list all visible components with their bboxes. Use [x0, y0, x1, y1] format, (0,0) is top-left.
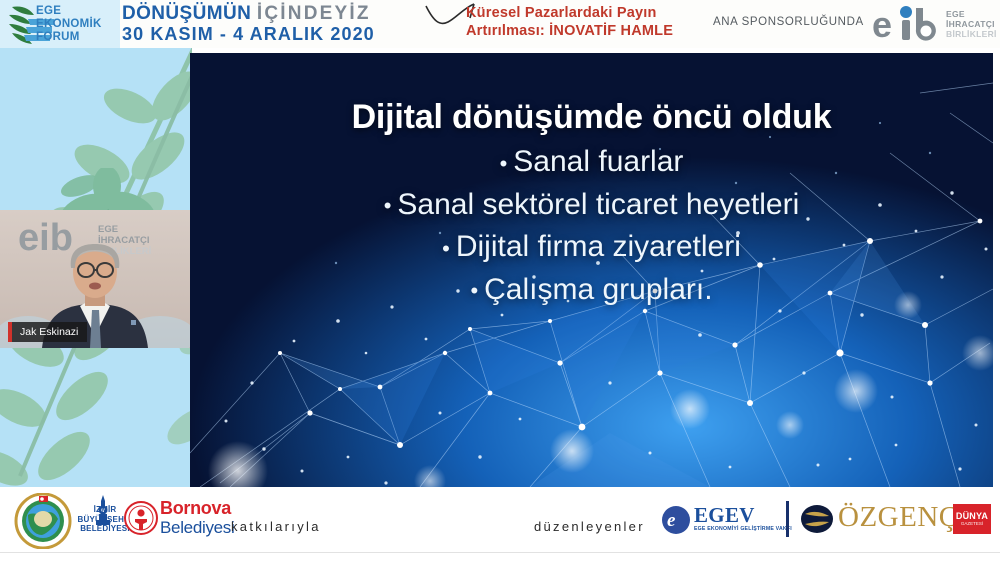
eib-line1: EGE — [946, 9, 997, 19]
footer-divider — [786, 501, 789, 537]
event-theme-line2: Artırılması: İNOVATİF HAMLE — [466, 22, 673, 40]
forum-logo-text: EGE EKONOMİK FORUM — [36, 5, 102, 44]
bullet-text: Çalışma grupları. — [484, 273, 712, 306]
bullet-text: Sanal sektörel ticaret heyetleri — [397, 188, 799, 221]
dunya-line2: GAZETESİ — [961, 521, 983, 527]
slide-bullet-item: •Sanal sektörel ticaret heyetleri — [190, 184, 993, 227]
sponsor-label: ANA SPONSORLUĞUNDA — [713, 16, 864, 28]
event-title-soft: İÇİNDEYİZ — [257, 3, 371, 24]
egev-logo-text: EGEV EGE EKONOMİYİ GELİŞTİRME VAKFI — [694, 504, 792, 533]
event-header-bar: EGE EKONOMİK FORUM DÖNÜŞÜMÜN İÇİNDEYİZ 3… — [0, 0, 1000, 48]
forum-logo-line3: FORUM — [36, 31, 102, 44]
egev-subtitle: EGE EKONOMİYİ GELİŞTİRME VAKFI — [694, 526, 792, 533]
eib-sponsor-logo: e EGE İHRACATÇI BİRLİKLERİ — [872, 4, 996, 44]
forum-logo-line1: EGE — [36, 5, 102, 18]
bornova-line1: Bornova — [160, 499, 235, 518]
egev-name: EGEV — [694, 504, 792, 526]
eib-logo-mark: e — [872, 4, 944, 44]
izmir-municipality-seal-icon — [14, 493, 72, 549]
slide-bullet-item: •Dijital firma ziyaretleri — [190, 226, 993, 269]
dunya-line1: DÜNYA — [956, 511, 988, 521]
event-title-block: DÖNÜŞÜMÜN İÇİNDEYİZ 30 KASIM - 4 ARALIK … — [122, 3, 422, 45]
svg-text:e: e — [872, 4, 892, 44]
bullet-text: Sanal fuarlar — [513, 145, 683, 178]
svg-text:eib: eib — [18, 217, 73, 259]
bullet-dot-icon: • — [470, 278, 478, 303]
event-theme-line1: Küresel Pazarlardaki Payın — [466, 4, 673, 22]
event-title-main: DÖNÜŞÜMÜN — [122, 3, 251, 24]
event-dates: 30 KASIM - 4 ARALIK 2020 — [122, 24, 422, 45]
svg-text:EGE: EGE — [98, 224, 118, 235]
bornova-municipality-seal-icon — [124, 501, 158, 535]
bullet-dot-icon: • — [384, 193, 392, 218]
eib-line2: İHRACATÇI — [946, 19, 997, 29]
slide-bullet-list: •Sanal fuarlar •Sanal sektörel ticaret h… — [190, 141, 993, 311]
bullet-text: Dijital firma ziyaretleri — [456, 230, 741, 263]
ozgenc-name: ÖZGENÇ — [838, 501, 959, 534]
svg-text:İHRACATÇI: İHRACATÇI — [98, 235, 150, 246]
forum-logo-line2: EKONOMİK — [36, 18, 102, 31]
egev-logo-mark: e — [660, 503, 692, 535]
bornova-line2: Belediyesi — [160, 518, 235, 537]
slide-bullet-item: •Çalışma grupları. — [190, 269, 993, 312]
svg-text:e: e — [667, 510, 676, 531]
presentation-slide[interactable]: Dijital dönüşümde öncü olduk •Sanal fuar… — [190, 53, 993, 487]
speaker-name-label: Jak Eskinazi — [8, 322, 87, 342]
eib-line3: BİRLİKLERİ — [946, 29, 997, 39]
speaker-video-tile[interactable]: eib EGE İHRACATÇI BİRLİKLERİ — [0, 210, 190, 348]
screenshot-stage: eib EGE İHRACATÇI BİRLİKLERİ — [0, 0, 1000, 562]
contributors-label: katkılarıyla — [231, 519, 321, 534]
speaker-name-text: Jak Eskinazi — [20, 326, 78, 338]
eib-logo-words: EGE İHRACATÇI BİRLİKLERİ — [946, 9, 997, 39]
ozgenc-logo-mark — [800, 504, 834, 534]
bullet-dot-icon: • — [500, 151, 508, 176]
bornova-municipality-text: Bornova Belediyesi — [160, 499, 235, 537]
ege-ekonomik-forum-logo: EGE EKONOMİK FORUM — [4, 2, 120, 47]
event-theme: Küresel Pazarlardaki Payın Artırılması: … — [466, 4, 673, 40]
sponsors-footer: İZMİR BÜYÜKŞEHİR BELEDİYESİ Bornova Bele… — [0, 487, 1000, 553]
organizers-label: düzenleyenler — [534, 519, 645, 534]
footer-bottom-strip — [0, 553, 1000, 562]
slide-title: Dijital dönüşümde öncü olduk — [190, 98, 993, 137]
dunya-gazetesi-logo: DÜNYA GAZETESİ — [953, 504, 991, 534]
bullet-dot-icon: • — [442, 236, 450, 261]
slide-bullet-item: •Sanal fuarlar — [190, 141, 993, 184]
